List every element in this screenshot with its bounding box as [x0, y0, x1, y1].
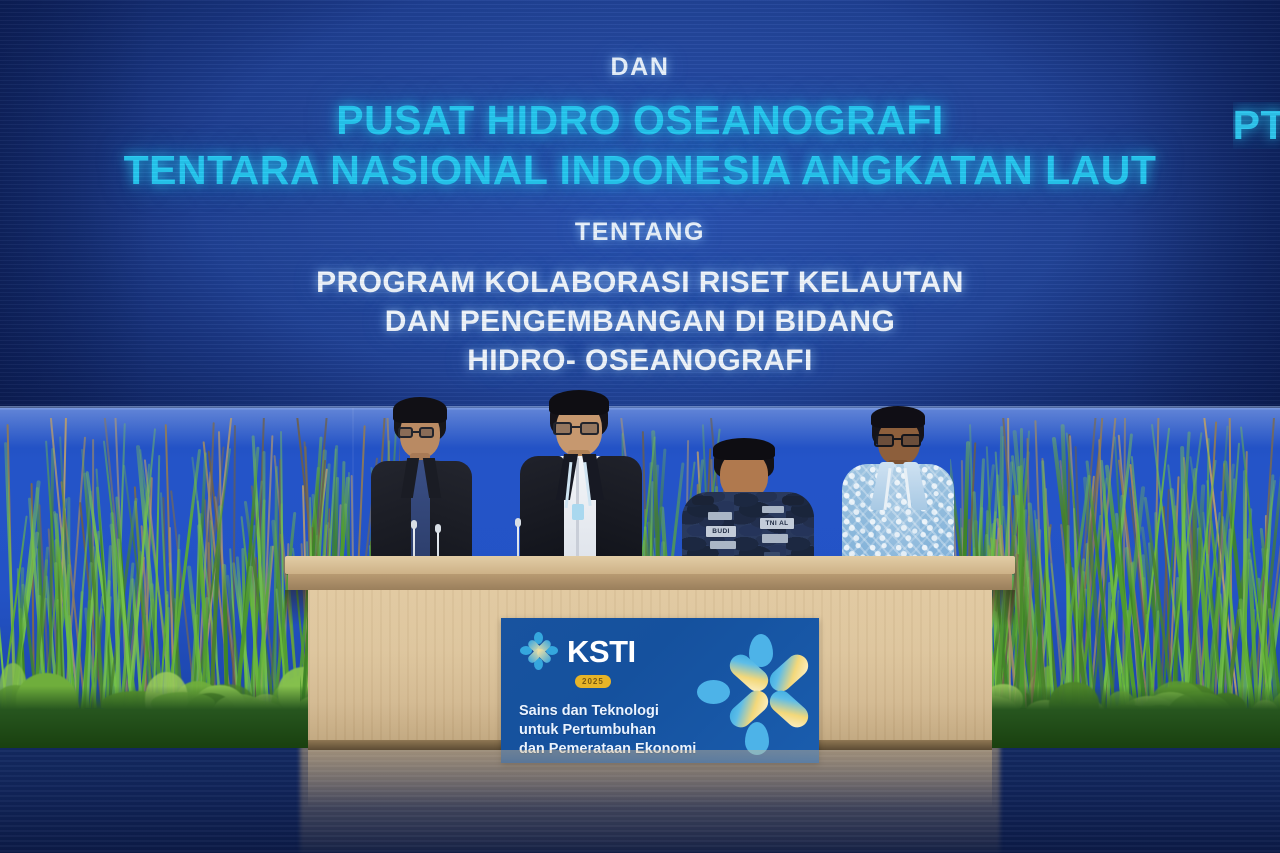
- table-floor-reflection: [308, 750, 992, 808]
- ceremony-photo: DAN PUSAT HIDRO OSEANOGRAFI TENTARA NASI…: [0, 0, 1280, 853]
- screen-line-org-2: TENTARA NASIONAL INDONESIA ANGKATAN LAUT: [124, 148, 1157, 194]
- ksti-wordmark: KSTI: [567, 636, 636, 667]
- screen-subject-line-1: PROGRAM KOLABORASI RISET KELAUTAN: [316, 263, 964, 302]
- microphone-head-icon: [515, 518, 521, 527]
- screen-subject-line-2: DAN PENGEMBANGAN DI BIDANG: [385, 302, 895, 341]
- planter-ground: [0, 686, 330, 748]
- microphone-head-icon: [411, 520, 417, 529]
- screen-line-tentang: TENTANG: [575, 220, 705, 245]
- led-screen-backdrop: DAN PUSAT HIDRO OSEANOGRAFI TENTARA NASI…: [0, 0, 1280, 415]
- uniform-name-tag: BUDI: [706, 526, 736, 537]
- eyeglasses-icon: [874, 434, 924, 448]
- screen-edge-clipped-text: PT: [1233, 102, 1280, 149]
- uniform-insignia: [708, 512, 732, 520]
- ksti-flower-logo-icon: [519, 631, 559, 671]
- table-top-surface: [285, 556, 1015, 574]
- ksti-year-badge: 2025: [575, 675, 611, 688]
- microphone-head-icon: [435, 524, 441, 533]
- banner-tagline-line-1: Sains dan Teknologi: [519, 702, 819, 721]
- uniform-service-tag: TNI AL: [760, 518, 794, 529]
- table-shadow-right: [989, 590, 1015, 626]
- uniform-insignia: [762, 506, 784, 513]
- screen-text-block: DAN PUSAT HIDRO OSEANOGRAFI TENTARA NASI…: [0, 0, 1280, 415]
- plant-bed-left: [0, 418, 330, 748]
- person-witness-right: [842, 408, 954, 576]
- screen-line-dan: DAN: [611, 55, 670, 80]
- eyeglasses-icon: [553, 422, 605, 436]
- person-navy-officer: BUDI TNI AL: [682, 440, 814, 575]
- uniform-insignia: [762, 534, 788, 543]
- banner-tagline-line-2: untuk Pertumbuhan: [519, 721, 819, 740]
- screen-line-org-1: PUSAT HIDRO OSEANOGRAFI: [336, 98, 944, 144]
- id-badge: [572, 504, 584, 520]
- ksti-event-banner: KSTI 2025 Sains dan Teknologi untuk Pert…: [501, 618, 819, 763]
- uniform-insignia: [710, 541, 736, 549]
- eyeglasses-icon: [398, 427, 442, 440]
- signing-table: KSTI 2025 Sains dan Teknologi untuk Pert…: [285, 556, 1015, 762]
- table-edge-lip: [288, 574, 1012, 590]
- screen-subject-line-3: HIDRO- OSEANOGRAFI: [467, 341, 813, 380]
- person-witness-center-left: [520, 392, 642, 574]
- person-witness-left: [368, 398, 473, 573]
